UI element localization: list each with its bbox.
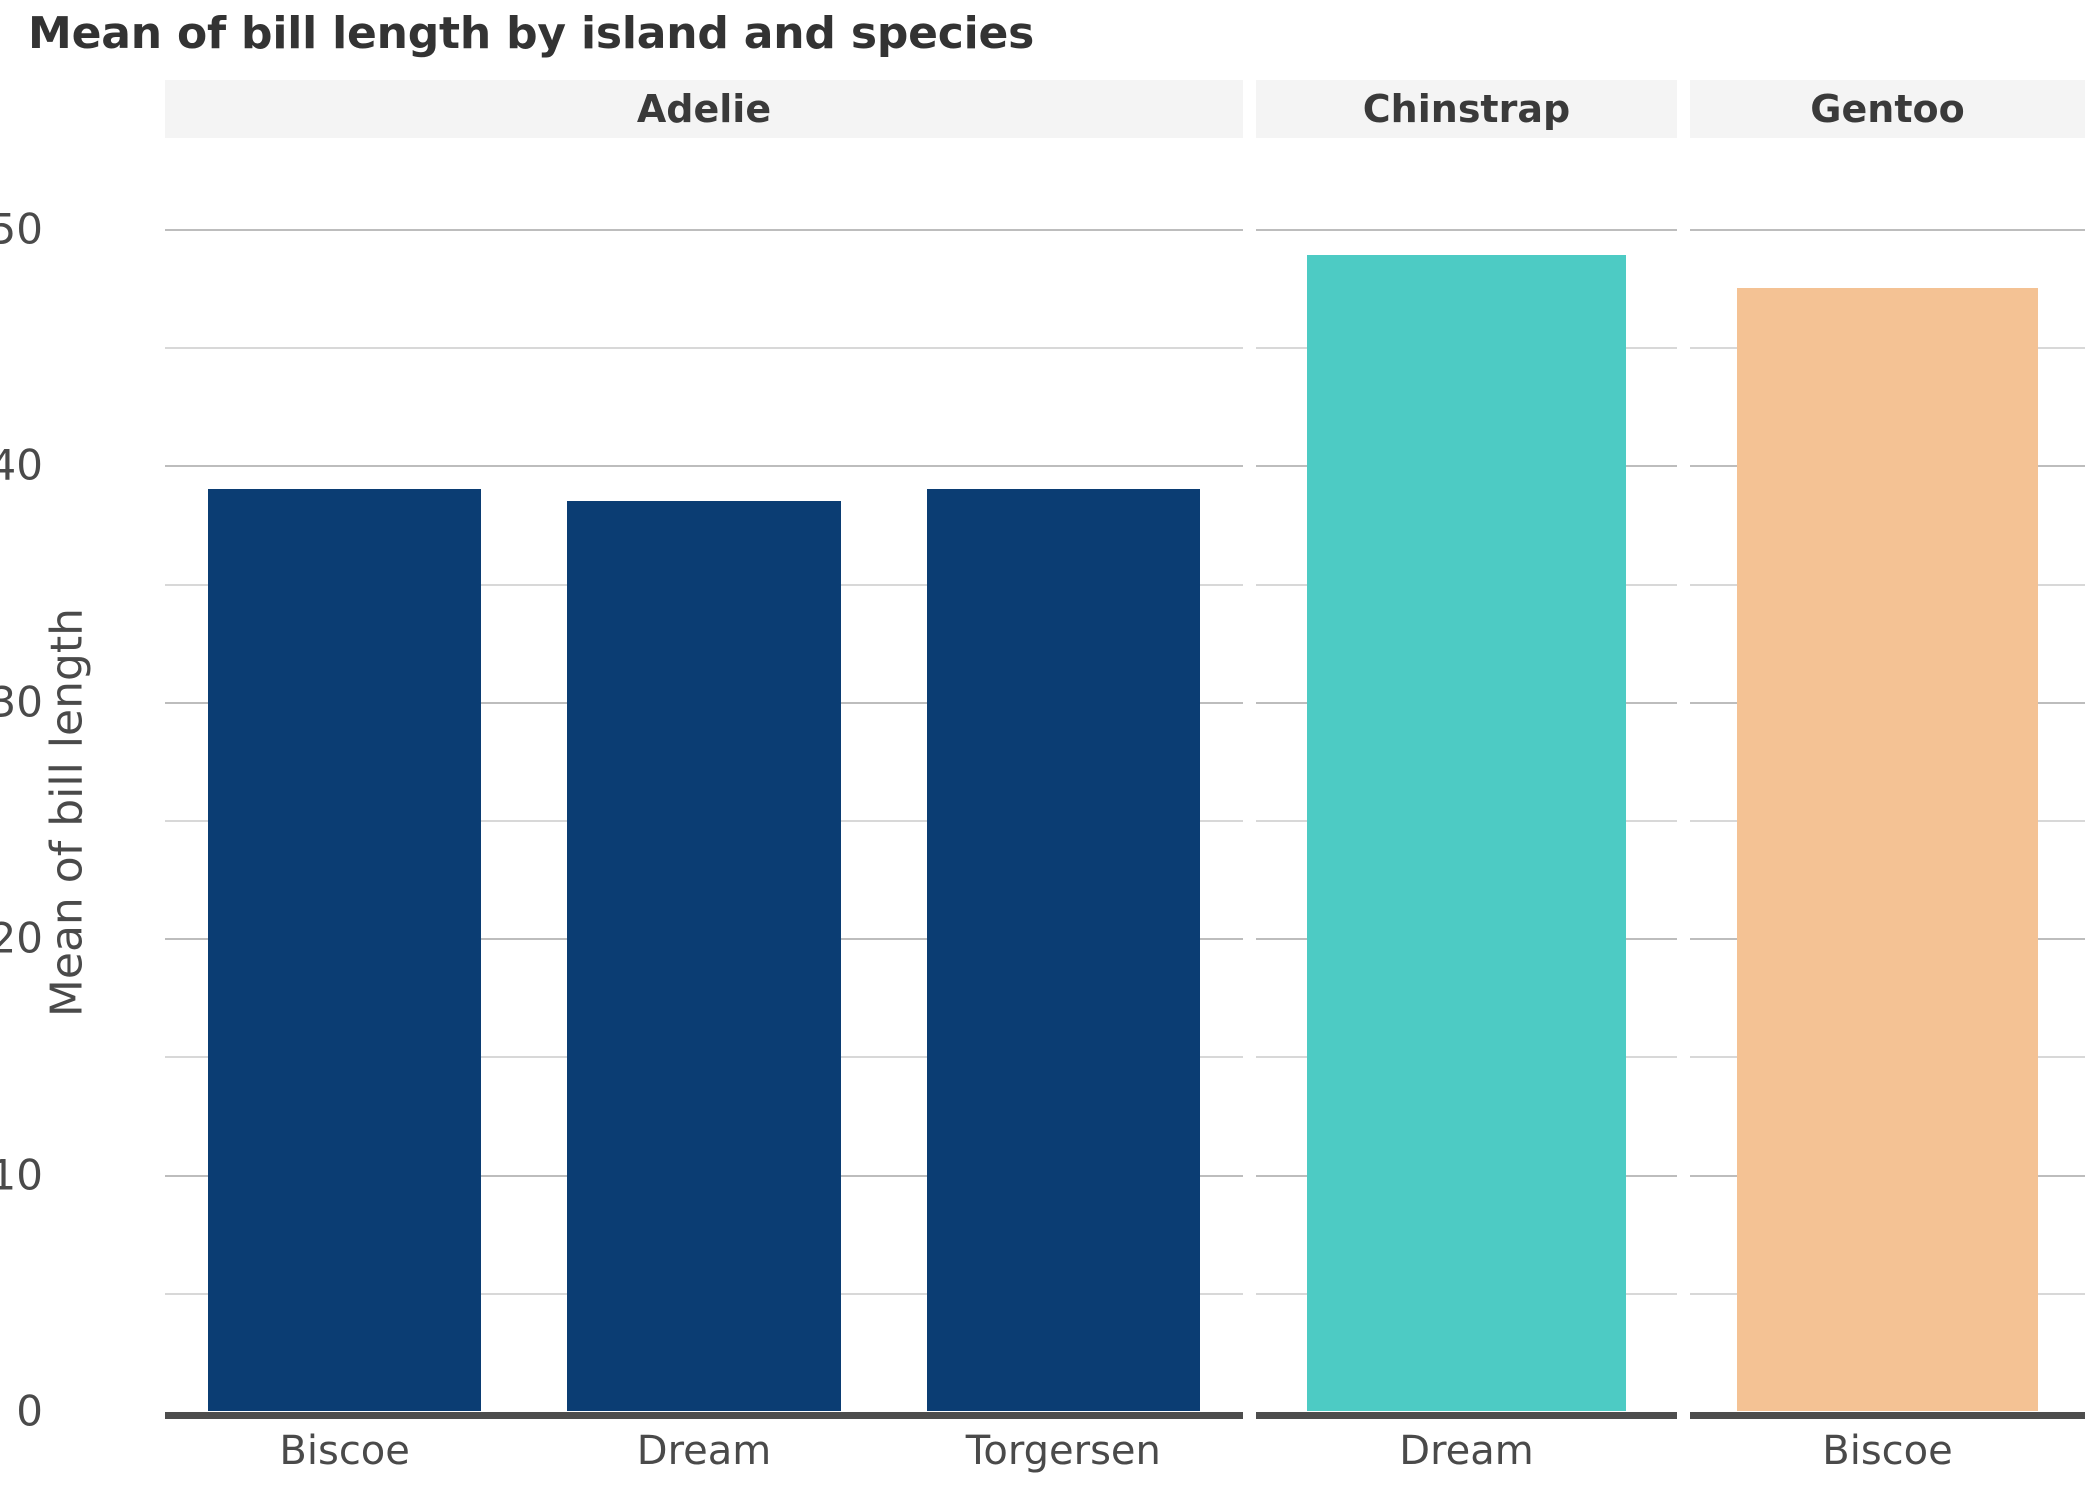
y-tick-label: 10 <box>0 1150 43 1199</box>
facet-strip-gentoo: Gentoo <box>1690 80 2085 138</box>
gridline-minor <box>165 347 1243 349</box>
x-axis-line <box>1256 1412 1677 1419</box>
facet-strip-label: Chinstrap <box>1363 87 1570 131</box>
y-tick-label: 40 <box>0 441 43 490</box>
facet-strip-label: Gentoo <box>1810 87 1964 131</box>
y-tick-label: 30 <box>0 677 43 726</box>
y-tick-label: 0 <box>0 1387 43 1436</box>
facet-strip-label: Adelie <box>637 87 771 131</box>
x-tick-label: Torgersen <box>884 1428 1243 1474</box>
y-tick-label: 20 <box>0 914 43 963</box>
y-axis-title: Mean of bill length <box>42 513 93 1113</box>
gridline-major <box>165 229 1243 231</box>
gridline-major <box>1690 229 2085 231</box>
gridline-major <box>165 465 1243 467</box>
bar[interactable] <box>1307 255 1627 1411</box>
x-tick-label: Biscoe <box>165 1428 524 1474</box>
facet-panel-gentoo <box>1690 170 2085 1411</box>
chart-root: Mean of bill length by island and specie… <box>0 0 2100 1500</box>
x-axis-line <box>165 1412 1243 1419</box>
facet-strip-adelie: Adelie <box>165 80 1243 138</box>
page-title: Mean of bill length by island and specie… <box>28 8 1034 59</box>
gridline-major <box>1256 229 1677 231</box>
x-tick-label: Dream <box>1256 1428 1677 1474</box>
bar[interactable] <box>927 489 1200 1411</box>
bar[interactable] <box>1737 288 2037 1411</box>
x-axis-line <box>1690 1412 2085 1419</box>
facet-panel-adelie <box>165 170 1243 1411</box>
bar[interactable] <box>567 501 840 1411</box>
y-tick-label: 50 <box>0 205 43 254</box>
x-tick-label: Dream <box>524 1428 883 1474</box>
bar[interactable] <box>208 489 481 1411</box>
facet-panel-chinstrap <box>1256 170 1677 1411</box>
x-tick-label: Biscoe <box>1690 1428 2085 1474</box>
facet-strip-chinstrap: Chinstrap <box>1256 80 1677 138</box>
